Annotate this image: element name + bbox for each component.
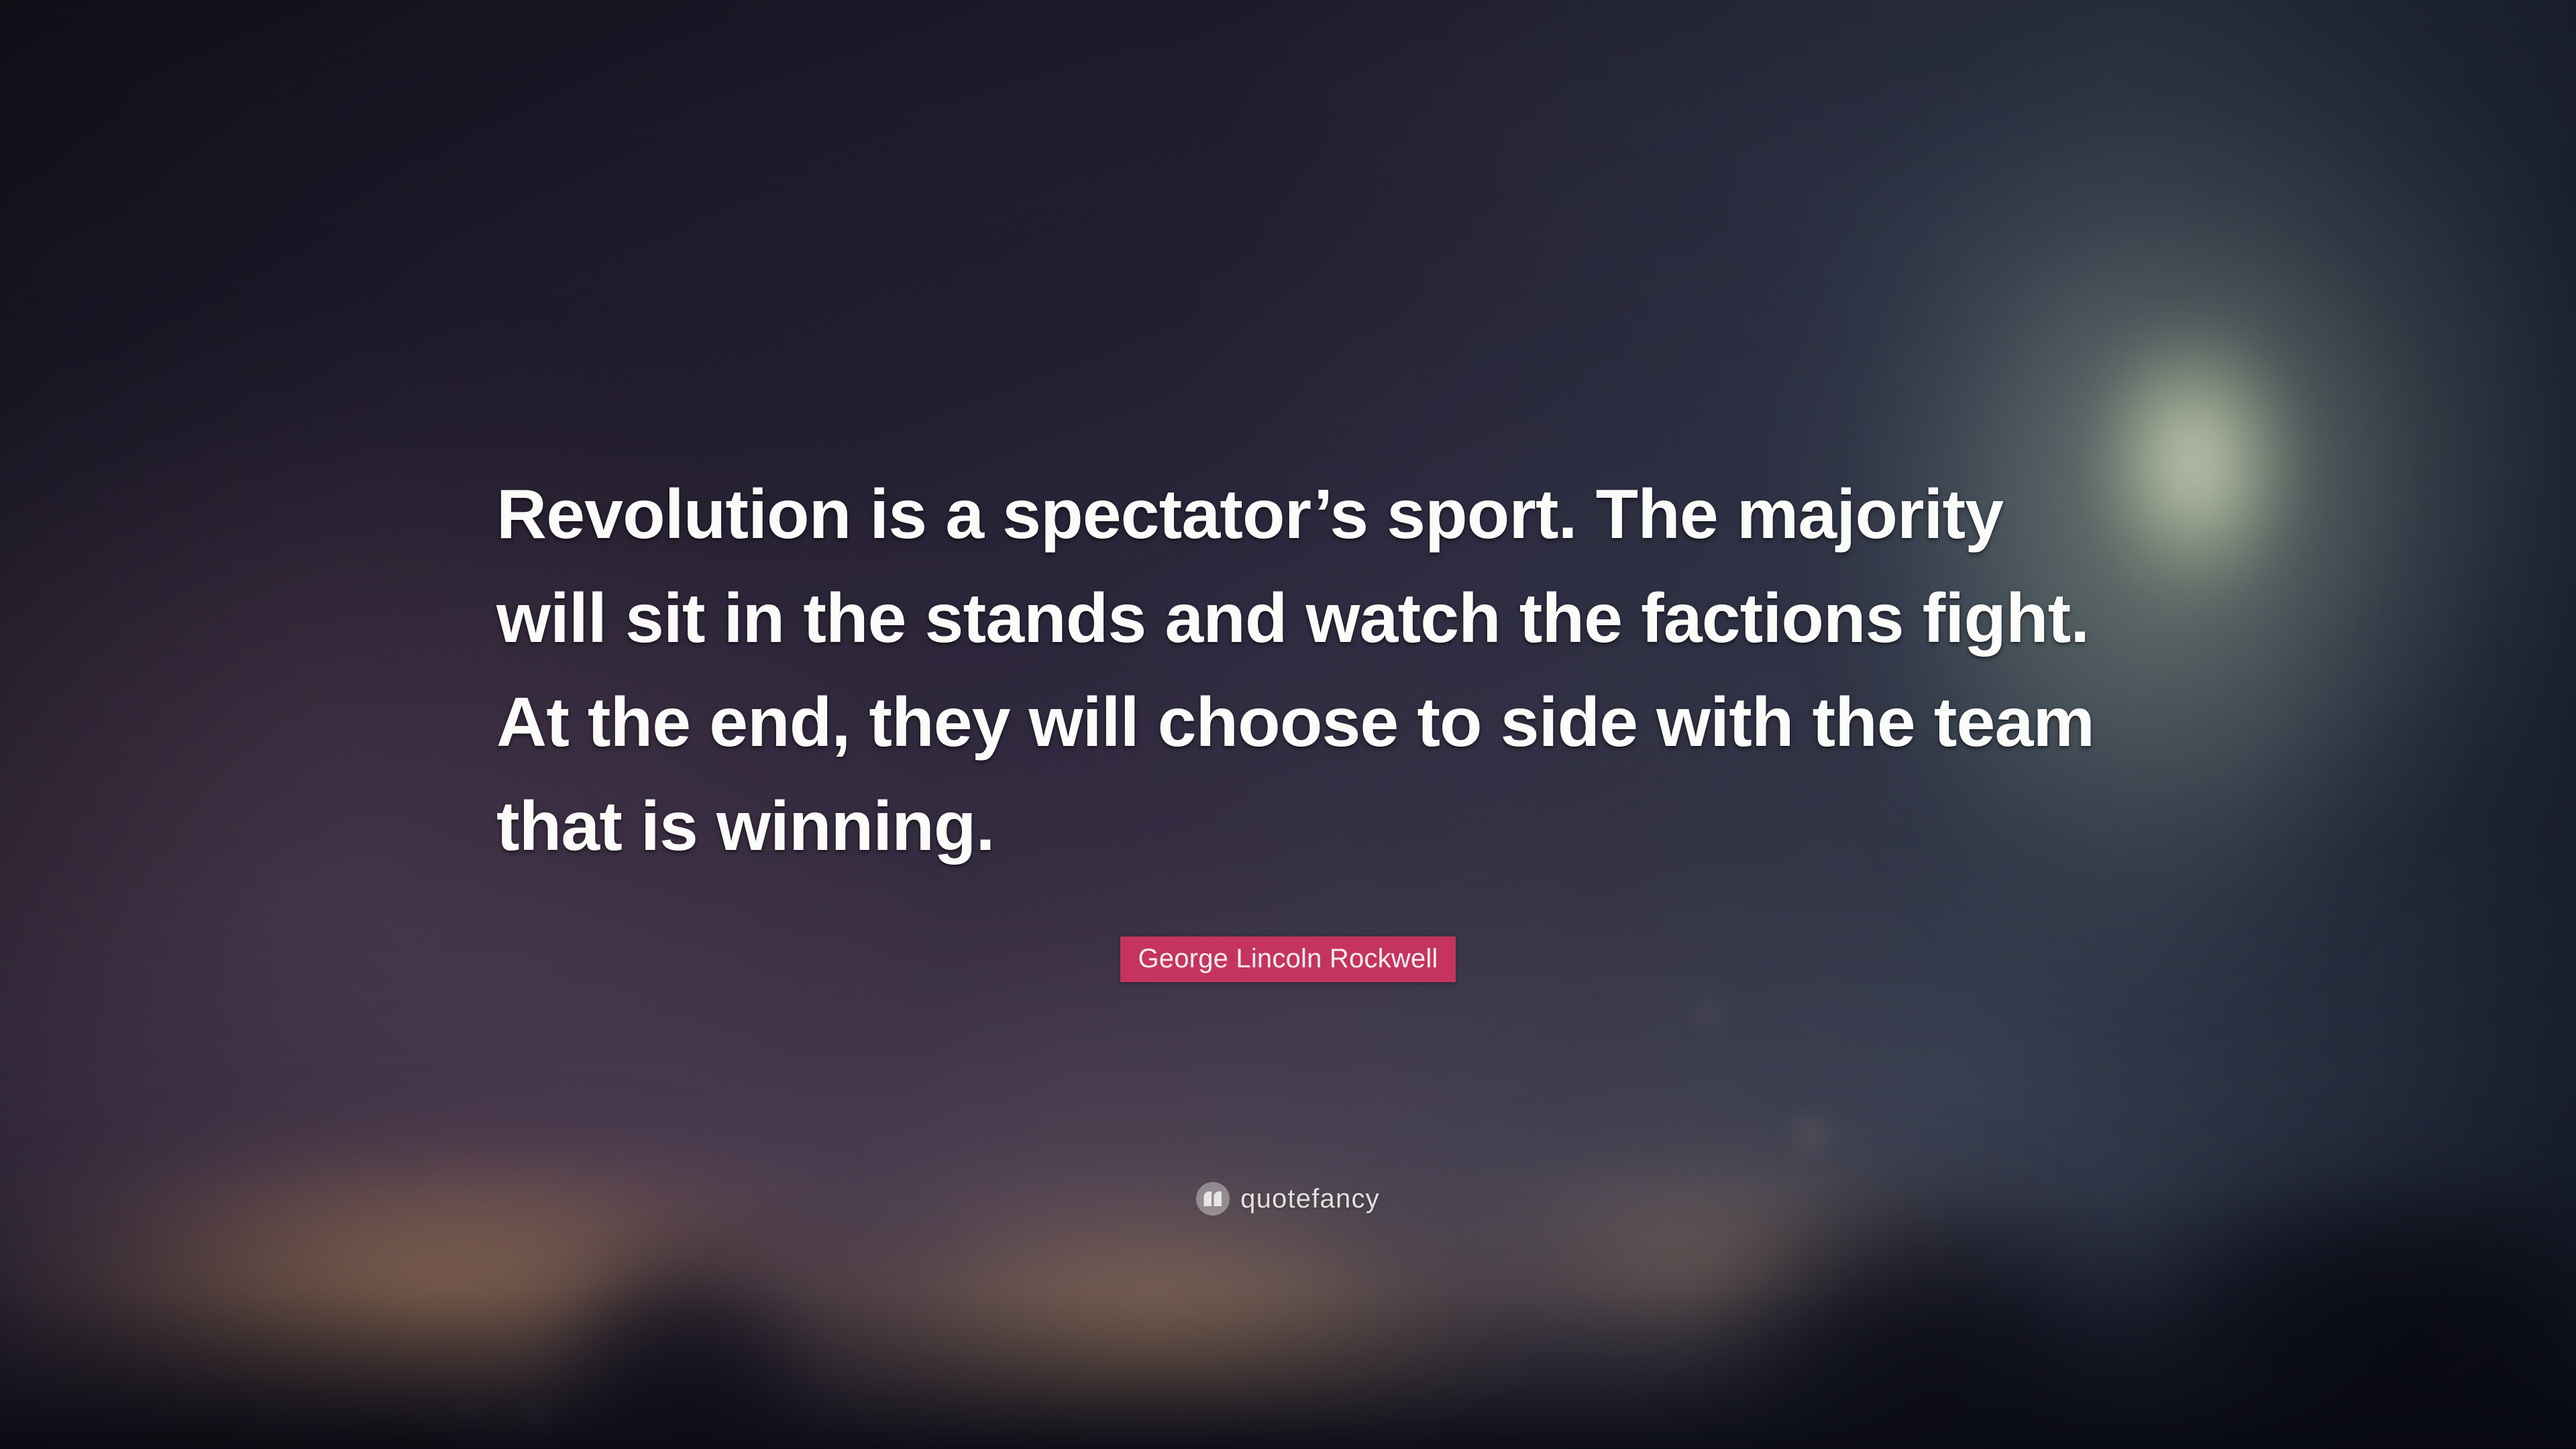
quote-wallpaper: Revolution is a spectator’s sport. The m…: [0, 0, 2576, 1449]
quote-text: Revolution is a spectator’s sport. The m…: [496, 463, 2106, 879]
quote-content: Revolution is a spectator’s sport. The m…: [0, 0, 2576, 1449]
author-badge[interactable]: George Lincoln Rockwell: [1120, 936, 1455, 982]
quote-mark-icon: [1196, 1182, 1230, 1216]
brand-name: quotefancy: [1240, 1185, 1380, 1212]
quote-block: Revolution is a spectator’s sport. The m…: [496, 463, 2106, 879]
brand-logo[interactable]: quotefancy: [0, 1182, 2576, 1216]
author-row: George Lincoln Rockwell: [0, 936, 2576, 982]
